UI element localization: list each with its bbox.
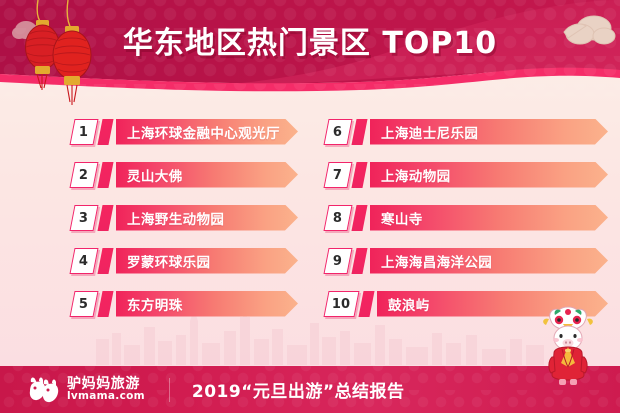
slash-divider-icon bbox=[97, 248, 113, 274]
ranking-column-right: 6 上海迪士尼乐园 7 上海动物园 8 寒山寺 9 上海海昌海洋公园 10 bbox=[310, 118, 620, 333]
slash-divider-icon bbox=[97, 162, 113, 188]
slash-divider-icon bbox=[97, 291, 113, 317]
slash-divider-icon bbox=[351, 119, 367, 145]
rank-badge: 7 bbox=[323, 162, 352, 188]
attraction-name: 东方明珠 bbox=[127, 294, 183, 314]
rank-badge: 5 bbox=[69, 291, 98, 317]
rank-badge: 3 bbox=[69, 205, 98, 231]
rank-number: 10 bbox=[332, 297, 350, 310]
attraction-name: 灵山大佛 bbox=[127, 165, 183, 185]
brand-logo[interactable]: 驴妈妈旅游 lvmama.com bbox=[28, 375, 145, 405]
list-item[interactable]: 5 东方明珠 bbox=[72, 290, 298, 317]
attraction-pill[interactable]: 上海迪士尼乐园 bbox=[370, 119, 608, 145]
list-item[interactable]: 2 灵山大佛 bbox=[72, 161, 298, 188]
attraction-pill[interactable]: 罗蒙环球乐园 bbox=[116, 248, 298, 274]
footer-bar: 驴妈妈旅游 lvmama.com 2019“元旦出游”总结报告 bbox=[0, 366, 620, 413]
attraction-pill[interactable]: 上海野生动物园 bbox=[116, 205, 298, 231]
rank-badge: 2 bbox=[69, 162, 98, 188]
report-title: 2019“元旦出游”总结报告 bbox=[192, 377, 405, 402]
lvmama-donkey-mascot-icon bbox=[537, 305, 599, 385]
list-item[interactable]: 1 上海环球金融中心观光厅 bbox=[72, 118, 298, 145]
slash-divider-icon bbox=[97, 205, 113, 231]
poster-root: 华东地区热门景区 TOP10 bbox=[0, 0, 620, 413]
attraction-name: 寒山寺 bbox=[381, 208, 423, 228]
rank-number: 2 bbox=[79, 168, 88, 181]
brand-name-cn: 驴妈妈旅游 bbox=[67, 377, 145, 392]
attraction-pill[interactable]: 上海动物园 bbox=[370, 162, 608, 188]
list-item[interactable]: 3 上海野生动物园 bbox=[72, 204, 298, 231]
slash-divider-icon bbox=[351, 162, 367, 188]
rank-badge: 6 bbox=[323, 119, 352, 145]
attraction-name: 上海迪士尼乐园 bbox=[381, 122, 478, 142]
attraction-name: 罗蒙环球乐园 bbox=[127, 251, 210, 271]
rank-number: 7 bbox=[333, 168, 342, 181]
ranking-list: 1 上海环球金融中心观光厅 2 灵山大佛 3 上海野生动物园 4 罗蒙环球乐园 … bbox=[0, 118, 620, 333]
slash-divider-icon bbox=[351, 205, 367, 231]
ranking-column-left: 1 上海环球金融中心观光厅 2 灵山大佛 3 上海野生动物园 4 罗蒙环球乐园 … bbox=[0, 118, 310, 333]
rank-number: 6 bbox=[333, 125, 342, 138]
red-lanterns-icon bbox=[8, 0, 118, 120]
list-item[interactable]: 9 上海海昌海洋公园 bbox=[326, 247, 608, 274]
attraction-name: 上海野生动物园 bbox=[127, 208, 224, 228]
attraction-pill[interactable]: 寒山寺 bbox=[370, 205, 608, 231]
slash-divider-icon bbox=[351, 248, 367, 274]
lvmama-donkey-logo-icon bbox=[28, 375, 62, 405]
list-item[interactable]: 8 寒山寺 bbox=[326, 204, 608, 231]
rank-badge: 9 bbox=[323, 248, 352, 274]
brand-name-en: lvmama.com bbox=[67, 391, 145, 402]
rank-badge: 10 bbox=[323, 291, 359, 317]
attraction-pill[interactable]: 东方明珠 bbox=[116, 291, 298, 317]
list-item[interactable]: 6 上海迪士尼乐园 bbox=[326, 118, 608, 145]
slash-divider-icon bbox=[358, 291, 374, 317]
attraction-name: 鼓浪屿 bbox=[388, 294, 430, 314]
rank-badge: 1 bbox=[69, 119, 98, 145]
rank-number: 4 bbox=[79, 254, 88, 267]
attraction-pill[interactable]: 上海环球金融中心观光厅 bbox=[116, 119, 298, 145]
attraction-name: 上海环球金融中心观光厅 bbox=[127, 122, 280, 142]
footer-divider bbox=[169, 378, 170, 402]
attraction-pill[interactable]: 上海海昌海洋公园 bbox=[370, 248, 608, 274]
rank-number: 3 bbox=[79, 211, 88, 224]
attraction-pill[interactable]: 灵山大佛 bbox=[116, 162, 298, 188]
list-item[interactable]: 4 罗蒙环球乐园 bbox=[72, 247, 298, 274]
rank-badge: 4 bbox=[69, 248, 98, 274]
rank-badge: 8 bbox=[323, 205, 352, 231]
brand-logo-text: 驴妈妈旅游 lvmama.com bbox=[67, 377, 145, 403]
slash-divider-icon bbox=[97, 119, 113, 145]
rank-number: 9 bbox=[333, 254, 342, 267]
rank-number: 8 bbox=[333, 211, 342, 224]
rank-number: 1 bbox=[79, 125, 88, 138]
rank-number: 5 bbox=[79, 297, 88, 310]
list-item[interactable]: 7 上海动物园 bbox=[326, 161, 608, 188]
auspicious-cloud-icon bbox=[560, 8, 616, 52]
attraction-name: 上海动物园 bbox=[381, 165, 451, 185]
attraction-name: 上海海昌海洋公园 bbox=[381, 251, 492, 271]
